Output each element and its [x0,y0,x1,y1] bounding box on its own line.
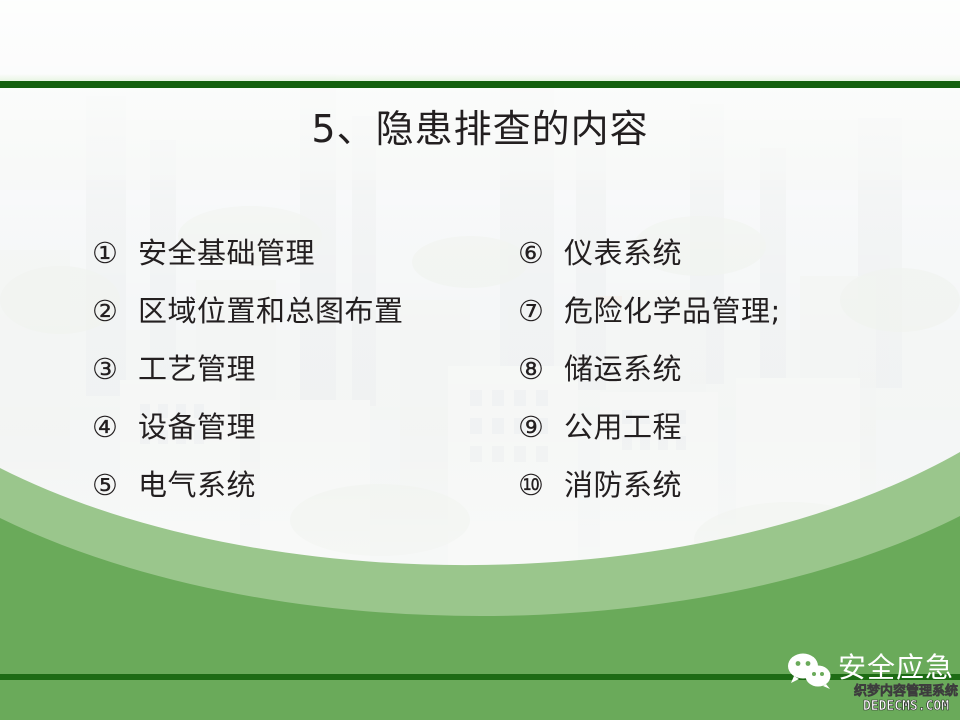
dedecms-watermark: 织梦内容管理系统 DEDECMS.COM [852,684,960,714]
list-marker: ⑥ [518,234,564,272]
watermark-line-en: DEDECMS.COM [852,699,960,714]
list-marker: ② [92,292,138,330]
list-item: ① 安全基础管理 [92,234,492,292]
list-marker: ⑨ [518,408,564,446]
list-marker: ① [92,234,138,272]
list-marker: ④ [92,408,138,446]
list-item: ⑦ 危险化学品管理; [518,292,918,350]
list-item: ⑧ 储运系统 [518,350,918,408]
list-item-label: 消防系统 [564,466,682,504]
list-item: ⑩ 消防系统 [518,466,918,524]
list-marker: ⑤ [92,466,138,504]
list-item: ④ 设备管理 [92,408,492,466]
list-marker: ③ [92,350,138,388]
list-item-label: 公用工程 [564,408,682,446]
content-list-left: ① 安全基础管理 ② 区域位置和总图布置 ③ 工艺管理 ④ 设备管理 ⑤ 电气系… [92,234,492,524]
slide-canvas: 5、隐患排查的内容 ① 安全基础管理 ② 区域位置和总图布置 ③ 工艺管理 ④ … [0,0,960,720]
list-item-label: 电气系统 [138,466,256,504]
list-item: ③ 工艺管理 [92,350,492,408]
list-item-label: 仪表系统 [564,234,682,272]
list-item-label: 储运系统 [564,350,682,388]
list-marker: ⑩ [518,466,564,504]
top-rule-glow [0,74,960,81]
list-item: ⑥ 仪表系统 [518,234,918,292]
list-item: ② 区域位置和总图布置 [92,292,492,350]
top-green-divider [0,81,960,88]
list-item-label: 设备管理 [138,408,256,446]
list-marker: ⑦ [518,292,564,330]
list-item-label: 区域位置和总图布置 [138,292,404,330]
content-list-right: ⑥ 仪表系统 ⑦ 危险化学品管理; ⑧ 储运系统 ⑨ 公用工程 ⑩ 消防系统 [518,234,918,524]
wechat-icon [786,652,834,690]
list-item-label: 工艺管理 [138,350,256,388]
watermark-line-cn: 织梦内容管理系统 [852,684,960,699]
list-item: ⑤ 电气系统 [92,466,492,524]
page-title: 5、隐患排查的内容 [0,104,960,154]
list-marker: ⑧ [518,350,564,388]
list-item-label: 安全基础管理 [138,234,315,272]
list-item: ⑨ 公用工程 [518,408,918,466]
list-item-label: 危险化学品管理; [564,292,781,330]
brand-name: 安全应急 [838,648,954,688]
